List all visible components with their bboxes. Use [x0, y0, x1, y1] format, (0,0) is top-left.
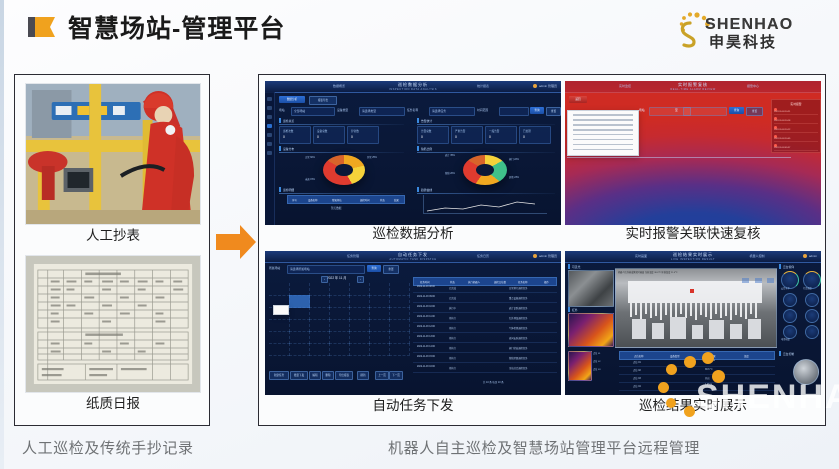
filter-input-1[interactable]: 请选择类型	[359, 107, 405, 116]
tile-caption: 人工抄表	[25, 229, 201, 251]
robot-info-1: 点位 02	[593, 359, 600, 366]
infrared-main-view[interactable]: 机器人红外热成像实时画面 当前温度 38.6℃ 环境温度 21.4℃	[615, 268, 777, 348]
control-button-left[interactable]	[783, 309, 797, 323]
right-arrow-icon	[214, 222, 258, 262]
td-status: 待执行	[449, 336, 456, 340]
slide-header: 智慧场站-管理平台 SHENHAO 申昊科	[0, 0, 839, 62]
th-2: 识别结果	[706, 354, 716, 358]
dashboard-live: 巡检结果实时展示 LIVE INSPECTION RESULT 实时画面 机器人…	[565, 251, 821, 395]
page-title: 智慧场站-管理平台	[68, 17, 285, 42]
tile-manual-meter-reading: 人工抄表	[25, 83, 201, 251]
dashboard-tab-0[interactable]: 数据概览	[317, 83, 361, 90]
filter-label: 所属场站	[269, 265, 280, 272]
donut-right-label-3: 其他 23%	[509, 175, 519, 182]
dashboard-user-label: admin	[809, 254, 817, 258]
alarm-row-4[interactable]: 2022-11-03 09:57	[774, 143, 818, 151]
dashboard-subtitle: REAL-TIME ALARM REVIEW	[670, 88, 715, 91]
td-result: 1.25 m	[705, 384, 712, 386]
stat-card-value: 0	[455, 135, 457, 139]
calendar-prev-button[interactable]: ‹	[321, 276, 328, 283]
td-time: 2022-11-03 11:00	[417, 316, 435, 318]
donut-right-label-2: 管线 20%	[445, 171, 455, 178]
alarm-row-text: 2022-11-03 10:05	[774, 138, 790, 140]
filter-reset-button[interactable]: 重置	[383, 265, 399, 274]
donut-right-label-0: 表计 35%	[445, 153, 455, 160]
table-row[interactable]: 2022-11-03 13:00待执行夜间安防巡检任务	[413, 335, 557, 343]
alarm-row-text: 2022-11-03 10:18	[774, 120, 790, 122]
live-result-table: 点位名称 设备类型 识别结果 温度 点位 010.62 MPa 点位 0238.…	[619, 351, 775, 391]
table-row[interactable]: 点位 010.62 MPa	[619, 359, 775, 367]
realtime-alarm-review-dashboard: 实时报警复核 REAL-TIME ALARM REVIEW 实时监控 报警中心 …	[565, 81, 821, 225]
joystick-control[interactable]	[793, 359, 819, 385]
alarm-row-text: 2022-11-03 09:57	[774, 147, 790, 149]
joystick-section-label: 云台控制	[779, 351, 794, 356]
footer-button-7[interactable]: 下一页	[389, 371, 403, 380]
alarm-row-text: 2022-11-03 10:12	[774, 129, 790, 131]
donut-chart-right	[463, 155, 507, 185]
calendar-next-button[interactable]: ›	[357, 276, 364, 283]
dropdown-item-6[interactable]	[573, 144, 633, 146]
pagination-label: 共 10 条 每页 10 条	[483, 379, 504, 386]
filter-reset-button[interactable]: 重置	[746, 107, 763, 116]
td-name: 重点设备巡检任务	[509, 296, 527, 300]
dashboard-tab-1[interactable]: 机器人控制	[737, 253, 777, 260]
td-status: 待执行	[449, 366, 456, 370]
logo-name-en: SHENHAO	[705, 17, 793, 33]
stat-card-value: 0	[351, 135, 353, 139]
station-dropdown-list[interactable]	[567, 110, 639, 156]
dropdown-item-1[interactable]	[573, 119, 633, 121]
td-point: 点位 01	[633, 360, 641, 364]
stat-card-title: 设备总数	[317, 129, 327, 133]
footer-button-3[interactable]: 删除	[322, 371, 334, 380]
dashboard-tab-0[interactable]: 实时监控	[605, 83, 645, 90]
dropdown-item-4[interactable]	[573, 134, 633, 136]
donut-chart-left	[323, 155, 365, 185]
filter-value-2: 请选择任务	[432, 108, 446, 115]
table-row[interactable]: 2022-11-03 09:00已完成重点设备巡检任务	[413, 295, 557, 303]
td-name: 全站综合巡检任务	[509, 366, 527, 370]
tile-realtime-alarm-review: 实时报警复核 REAL-TIME ALARM REVIEW 实时监控 报警中心 …	[565, 81, 821, 249]
th-0: 点位名称	[634, 354, 644, 358]
stat-card-value: 0	[317, 135, 319, 139]
th-4: 状态	[380, 198, 385, 202]
tile-live-inspection-result: 巡检结果实时展示 LIVE INSPECTION RESULT 实时画面 机器人…	[565, 251, 821, 421]
robot-info-0: 点位 01	[593, 351, 600, 358]
filter-label-1: 至	[675, 107, 678, 114]
donut-right-label-1: 阀门 22%	[509, 157, 519, 164]
sidebar-icon-4[interactable]	[267, 133, 272, 137]
slide-root: 智慧场站-管理平台 SHENHAO 申昊科	[0, 0, 839, 469]
tile-paper-daily-report: 纸质日报	[25, 255, 201, 419]
filter-value-1: 请选择类型	[362, 108, 376, 115]
stat-card-value: 0	[283, 135, 285, 139]
th-0: 任务时间	[420, 280, 430, 284]
filter-value: 请选择所属场站	[290, 266, 310, 273]
alarm-list-panel: 实时报警 2022-11-03 10:21 2022-11-03 10:18 2…	[771, 99, 821, 153]
th-3: 巡检点位数	[494, 280, 506, 284]
td-time: 2022-11-03 08:00	[417, 286, 435, 288]
th-0: 序号	[292, 198, 297, 202]
table-row[interactable]: 点位 0238.6 ℃	[619, 367, 775, 375]
alarm-row-3[interactable]: 2022-11-03 10:05	[774, 134, 818, 142]
stat-card-title: 告警总数	[421, 129, 431, 133]
table-empty-text: 暂无数据	[331, 205, 341, 212]
th-2: 所属场站	[332, 198, 342, 202]
table-row[interactable]: 2022-11-03 08:00已完成日常例行巡检任务	[413, 285, 557, 293]
tile-automatic-task-dispatch: 自动任务下发 AUTOMATIC TASK DISPATCH 任务管理 任务日历…	[265, 251, 561, 421]
sidebar-icon-6[interactable]	[267, 151, 272, 155]
td-time: 2022-11-03 10:00	[417, 306, 435, 308]
th-4: 任务名称	[518, 280, 528, 284]
stat-card-title: 异常数	[351, 129, 359, 133]
dropdown-item-3[interactable]	[573, 129, 633, 131]
filter-input-2[interactable]: 请选择任务	[429, 107, 475, 116]
stat-card-value: 0	[421, 135, 423, 139]
inspection-result-live-display-dashboard: 巡检结果实时展示 LIVE INSPECTION RESULT 实时画面 机器人…	[565, 251, 821, 395]
table-row[interactable]: 2022-11-03 10:00执行中表计识别巡检任务	[413, 305, 557, 313]
robot-thumbnail[interactable]	[568, 351, 592, 381]
dashboard-tab-1[interactable]: 报警中心	[733, 83, 773, 90]
td-name: 表计识别巡检任务	[509, 306, 527, 310]
td-status: 已完成	[449, 296, 456, 300]
td-time: 2022-11-03 13:00	[417, 336, 435, 338]
filter-input-0[interactable]: 全部场站	[291, 107, 335, 116]
right-panel-footer-caption: 机器人自主巡检及智慧场站管理平台远程管理	[388, 441, 700, 456]
calendar-month-label: 2022 年 11 月	[327, 275, 346, 282]
table-row[interactable]: 2022-11-03 12:00待执行气体检测巡检任务	[413, 325, 557, 333]
alarm-row-text: 2022-11-03 10:21	[774, 111, 790, 113]
td-name: 日常例行巡检任务	[509, 286, 527, 290]
td-point: 点位 03	[633, 376, 641, 380]
section-head-3: 缺陷比例	[417, 146, 432, 151]
stat-card-1: 设备总数 0	[313, 126, 345, 144]
analysis-table: 序号 设备名称 所属场站 巡检时间 状态 结果 暂无数据	[287, 195, 405, 221]
dashboard-user[interactable]: admin 管理员	[533, 84, 557, 88]
gauge-label-3: 电池电量	[781, 337, 790, 344]
th-3: 温度	[744, 354, 749, 358]
inspection-data-analysis-dashboard: 巡检数据分析 INSPECTION DATA ANALYSIS 数据概览 统计报…	[265, 81, 561, 225]
td-name: 阀门状态巡检任务	[509, 346, 527, 350]
task-table: 任务时间 状态 执行机器人 巡检点位数 任务名称 操作 2022-11-03 0…	[413, 277, 557, 377]
dashboard-alarm: 实时报警复核 REAL-TIME ALARM REVIEW 实时监控 报警中心 …	[565, 81, 821, 225]
gauge-label-1: 云台水平	[781, 286, 790, 293]
worker-reading-meter-photo	[25, 83, 201, 225]
td-status: 待执行	[449, 316, 456, 320]
td-time: 2022-11-03 15:00	[417, 356, 435, 358]
dropdown-item-0[interactable]	[573, 114, 633, 116]
stat-card-5: 一般告警 0	[485, 126, 517, 144]
dropdown-item-5[interactable]	[573, 139, 633, 141]
filter-input-1[interactable]	[683, 107, 727, 116]
td-point: 点位 02	[633, 368, 641, 372]
dashboard-user[interactable]: admin 管理员	[533, 254, 557, 258]
manual-inspection-panel: 人工抄表	[14, 74, 210, 426]
filter-search-button[interactable]: 查询	[530, 107, 544, 114]
td-result: 38.6 ℃	[705, 368, 713, 371]
filter-input[interactable]: 请选择所属场站	[287, 265, 365, 274]
dashboard-subtitle: AUTOMATIC TASK DISPATCH	[389, 258, 436, 261]
filter-label-3: 时间范围	[477, 107, 488, 114]
control-button-right[interactable]	[805, 309, 819, 323]
dropdown-item-7[interactable]	[573, 149, 633, 151]
cam-section-label-0: 可见光	[568, 264, 580, 269]
td-point: 点位 04	[633, 384, 641, 388]
alarm-back-button[interactable]: 返回	[569, 96, 587, 103]
table-row[interactable]: 点位 041.25 m	[619, 383, 775, 391]
section-head-1: 告警统计	[417, 118, 432, 123]
th-3: 巡检时间	[360, 198, 370, 202]
stat-card-2: 异常数 0	[347, 126, 379, 144]
th-1: 状态	[450, 280, 455, 284]
slide-left-edge-bar	[0, 0, 4, 469]
toolbar-button-1[interactable]: 报表导出	[309, 96, 337, 105]
table-row[interactable]: 2022-11-03 15:00待执行管线泄漏巡检任务	[413, 355, 557, 363]
td-status: 已完成	[449, 286, 456, 290]
td-status: 待执行	[449, 346, 456, 350]
control-button-backward[interactable]	[805, 293, 819, 307]
task-calendar[interactable]	[269, 283, 409, 367]
left-panel-footer-caption: 人工巡检及传统手抄记录	[22, 441, 194, 456]
footer-button-0[interactable]: 新建任务	[269, 371, 289, 380]
filter-search-button[interactable]: 查询	[729, 107, 744, 114]
gauge-section-label: 云台俯仰	[779, 264, 794, 269]
stat-card-title: 巡检次数	[283, 129, 293, 133]
footer-button-5[interactable]: 刷新	[357, 371, 369, 380]
alarm-panel-title: 实时报警	[790, 102, 801, 106]
dashboard-user-label: admin 管理员	[539, 254, 557, 258]
td-status: 待执行	[449, 326, 456, 330]
stat-card-title: 已处理	[523, 129, 531, 133]
dashboard-tab-0[interactable]: 实时画面	[621, 253, 661, 260]
dashboard-tab-1[interactable]: 任务日历	[461, 253, 505, 260]
td-time: 2022-11-03 14:00	[417, 346, 435, 348]
dashboard-user[interactable]: admin	[803, 254, 817, 258]
filter-value-0: 全部场站	[294, 108, 305, 115]
ir-toolbar[interactable]	[741, 270, 774, 288]
td-name: 管线泄漏巡检任务	[509, 356, 527, 360]
stat-card-6: 已处理 0	[519, 126, 551, 144]
stat-card-3: 告警总数 0	[417, 126, 449, 144]
alarm-row-2[interactable]: 2022-11-03 10:12	[774, 125, 818, 133]
tile-caption: 巡检结果实时展示	[565, 399, 821, 421]
cam-section-label-1: 红外	[568, 307, 578, 312]
alarm-row-1[interactable]: 2022-11-03 10:18	[774, 116, 818, 124]
th-2: 执行机器人	[468, 280, 480, 284]
th-1: 设备类型	[670, 354, 680, 358]
paper-daily-report-photo	[25, 255, 201, 393]
footer-button-2[interactable]: 编辑	[309, 371, 321, 380]
toolbar-button-0[interactable]: 数据分析	[279, 96, 305, 103]
dashboard-analysis: 巡检数据分析 INSPECTION DATA ANALYSIS 数据概览 统计报…	[265, 81, 561, 225]
sidebar-icon-5[interactable]	[267, 142, 272, 146]
donut-left-label-1: 异常 25%	[367, 155, 377, 162]
smart-station-platform-panel: 巡检数据分析 INSPECTION DATA ANALYSIS 数据概览 统计报…	[258, 74, 826, 426]
section-head-4: 巡检明细	[279, 187, 294, 192]
filter-input-3[interactable]	[499, 107, 529, 116]
dashboard-tab-1[interactable]: 统计报表	[461, 83, 505, 90]
filter-label-0: 场站	[279, 107, 285, 114]
td-time: 2022-11-03 16:00	[417, 366, 435, 368]
td-time: 2022-11-03 09:00	[417, 296, 435, 298]
tile-inspection-data-analysis: 巡检数据分析 INSPECTION DATA ANALYSIS 数据概览 统计报…	[265, 81, 561, 249]
tile-caption: 实时报警关联快速复核	[565, 227, 821, 249]
filter-label-1: 设备类型	[337, 107, 348, 114]
td-status: 待执行	[449, 356, 456, 360]
filter-label-2: 任务名称	[407, 107, 418, 114]
sidebar-icon-3[interactable]	[267, 124, 272, 128]
sidebar-icon-2[interactable]	[267, 115, 272, 119]
dashboard-subtitle: LIVE INSPECTION RESULT	[671, 258, 715, 261]
th-5: 操作	[544, 280, 549, 284]
filter-search-button[interactable]: 查询	[367, 265, 381, 272]
section-head-5: 趋势曲线	[417, 187, 432, 192]
table-header-row: 序号 设备名称 所属场站 巡检时间 状态 结果	[287, 195, 405, 204]
table-row[interactable]: 点位 03开启	[619, 375, 775, 383]
donut-left-label-0: 正常 60%	[305, 155, 315, 162]
stat-card-value: 0	[523, 135, 525, 139]
robot-info-2: 点位 03	[593, 367, 600, 374]
td-status: 执行中	[449, 306, 456, 310]
thermal-camera-feed[interactable]	[568, 313, 614, 347]
table-row[interactable]: 2022-11-03 16:00待执行全站综合巡检任务	[413, 365, 557, 373]
dashboard-subtitle: INSPECTION DATA ANALYSIS	[389, 88, 437, 91]
stat-card-value: 0	[489, 135, 491, 139]
footer-button-6[interactable]: 上一页	[375, 371, 389, 380]
table-row[interactable]: 2022-11-03 14:00待执行阀门状态巡检任务	[413, 345, 557, 353]
tile-caption: 自动任务下发	[265, 399, 561, 421]
automatic-task-dispatch-dashboard: 自动任务下发 AUTOMATIC TASK DISPATCH 任务管理 任务日历…	[265, 251, 561, 395]
td-result: 开启	[705, 376, 710, 380]
company-logo: SHENHAO 申昊科技	[667, 8, 817, 58]
stat-card-4: 严重告警 0	[451, 126, 483, 144]
section-head-0: 巡检总览	[279, 118, 294, 123]
stat-card-title: 一般告警	[489, 129, 499, 133]
donut-left-label-2: 未巡 15%	[305, 177, 315, 184]
th-5: 结果	[394, 198, 399, 202]
control-button-focus[interactable]	[805, 325, 819, 339]
dropdown-item-2[interactable]	[573, 124, 633, 126]
td-name: 红外测温巡检任务	[509, 316, 527, 320]
visible-light-camera-feed[interactable]	[568, 270, 614, 307]
dashboard-tab-0[interactable]: 任务管理	[331, 253, 375, 260]
title-group: 智慧场站-管理平台	[28, 16, 285, 43]
tile-caption: 纸质日报	[25, 397, 201, 419]
trend-line-chart	[423, 195, 547, 214]
footer-button-1[interactable]: 批量下发	[290, 371, 308, 380]
td-result: 0.62 MPa	[705, 360, 715, 362]
td-time: 2022-11-03 12:00	[417, 326, 435, 328]
flag-icon	[28, 16, 58, 43]
dashboard-sidebar[interactable]	[265, 92, 275, 225]
control-button-forward[interactable]	[783, 293, 797, 307]
dashboard-user-label: admin 管理员	[539, 84, 557, 88]
stat-card-title: 严重告警	[455, 129, 465, 133]
gauge-label-2: 行走速度	[803, 286, 812, 293]
dashboard-task: 自动任务下发 AUTOMATIC TASK DISPATCH 任务管理 任务日历…	[265, 251, 561, 395]
ir-caption: 机器人红外热成像实时画面 当前温度 38.6℃ 环境温度 21.4℃	[618, 270, 678, 274]
td-name: 气体检测巡检任务	[509, 326, 527, 330]
stat-card-0: 巡检次数 0	[279, 126, 311, 144]
sidebar-icon-0[interactable]	[267, 97, 272, 101]
filter-reset-button[interactable]: 重置	[546, 107, 561, 116]
logo-name-cn: 申昊科技	[709, 35, 777, 50]
footer-button-4[interactable]: 导出报表	[335, 371, 353, 380]
td-name: 夜间安防巡检任务	[509, 336, 527, 340]
sidebar-icon-1[interactable]	[267, 106, 272, 110]
tile-caption: 巡检数据分析	[265, 227, 561, 249]
section-head-2: 设备分布	[279, 146, 294, 151]
table-row[interactable]: 2022-11-03 11:00待执行红外测温巡检任务	[413, 315, 557, 323]
calendar-tooltip	[273, 305, 289, 315]
alarm-row-0[interactable]: 2022-11-03 10:21	[774, 107, 818, 115]
th-1: 设备名称	[308, 198, 318, 202]
filter-label-0: 场站	[639, 107, 645, 114]
